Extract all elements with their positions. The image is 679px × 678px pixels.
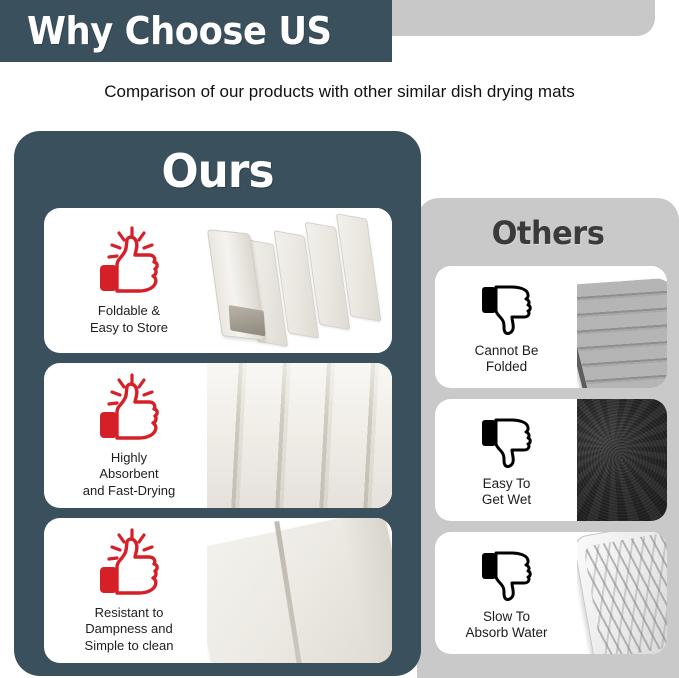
thumbs-down-icon: [479, 416, 535, 470]
subtitle-text: Comparison of our products with other si…: [0, 82, 679, 102]
label-line-1: Highly: [83, 450, 175, 466]
label-line-1: Easy To: [482, 476, 531, 492]
others-card-content: Easy To Get Wet: [435, 399, 578, 521]
ours-card-content: Foldable & Easy to Store: [44, 208, 214, 353]
ours-card: Resistant to Dampness and Simple to clea…: [44, 518, 392, 663]
gray-ribbed-mat-photo: [577, 266, 667, 388]
ours-card: Foldable & Easy to Store: [44, 208, 392, 353]
page-title: Why Choose US: [27, 9, 332, 53]
thumbs-up-icon: [92, 527, 166, 597]
ours-card-content: Highly Absorbent and Fast-Drying: [44, 363, 214, 508]
others-card: Easy To Get Wet: [435, 399, 667, 521]
thumbs-down-icon: [479, 549, 535, 603]
others-card-content: Slow To Absorb Water: [435, 532, 578, 654]
label-line-1: Slow To: [465, 609, 547, 625]
label-line-2: Dampness and: [85, 621, 174, 637]
others-card-label: Slow To Absorb Water: [465, 609, 547, 642]
ours-card-label: Foldable & Easy to Store: [90, 303, 168, 336]
others-card-label: Easy To Get Wet: [482, 476, 531, 509]
others-panel-title: Others: [424, 214, 673, 252]
label-line-2: Easy to Store: [90, 320, 168, 336]
others-panel: Others Cannot Be Folded: [417, 198, 679, 678]
thumbs-down-icon: [479, 283, 535, 337]
others-card-content: Cannot Be Folded: [435, 266, 578, 388]
label-line-3: Simple to clean: [85, 638, 174, 654]
label-line-1: Foldable &: [90, 303, 168, 319]
ours-card-label: Resistant to Dampness and Simple to clea…: [85, 605, 174, 654]
others-card: Cannot Be Folded: [435, 266, 667, 388]
ours-panel-title: Ours: [24, 144, 411, 198]
others-card-list: Cannot Be Folded: [435, 266, 667, 665]
tilted-mat-photo: [207, 518, 392, 663]
header-banner: Why Choose US: [0, 0, 392, 62]
thumbs-up-icon: [92, 225, 166, 295]
ours-card-label: Highly Absorbent and Fast-Drying: [83, 450, 175, 499]
label-line-3: and Fast-Drying: [83, 483, 175, 499]
label-line-2: Absorbent: [83, 466, 175, 482]
label-line-1: Cannot Be: [475, 343, 539, 359]
ours-card: Highly Absorbent and Fast-Drying: [44, 363, 392, 508]
ours-card-content: Resistant to Dampness and Simple to clea…: [44, 518, 214, 663]
ours-card-list: Foldable & Easy to Store: [44, 208, 392, 673]
label-line-2: Absorb Water: [465, 625, 547, 641]
silicone-bumpy-mat-photo: [577, 532, 667, 654]
ribbed-mat-closeup-photo: [207, 363, 392, 508]
thumbs-up-icon: [92, 372, 166, 442]
others-card-label: Cannot Be Folded: [475, 343, 539, 376]
label-line-2: Get Wet: [482, 492, 531, 508]
label-line-2: Folded: [475, 359, 539, 375]
folded-white-mat-photo: [207, 208, 392, 353]
comparison-infographic: Why Choose US Comparison of our products…: [0, 0, 679, 678]
label-line-1: Resistant to: [85, 605, 174, 621]
ours-panel: Ours: [14, 131, 421, 676]
wet-dark-fabric-photo: [577, 399, 667, 521]
others-card: Slow To Absorb Water: [435, 532, 667, 654]
